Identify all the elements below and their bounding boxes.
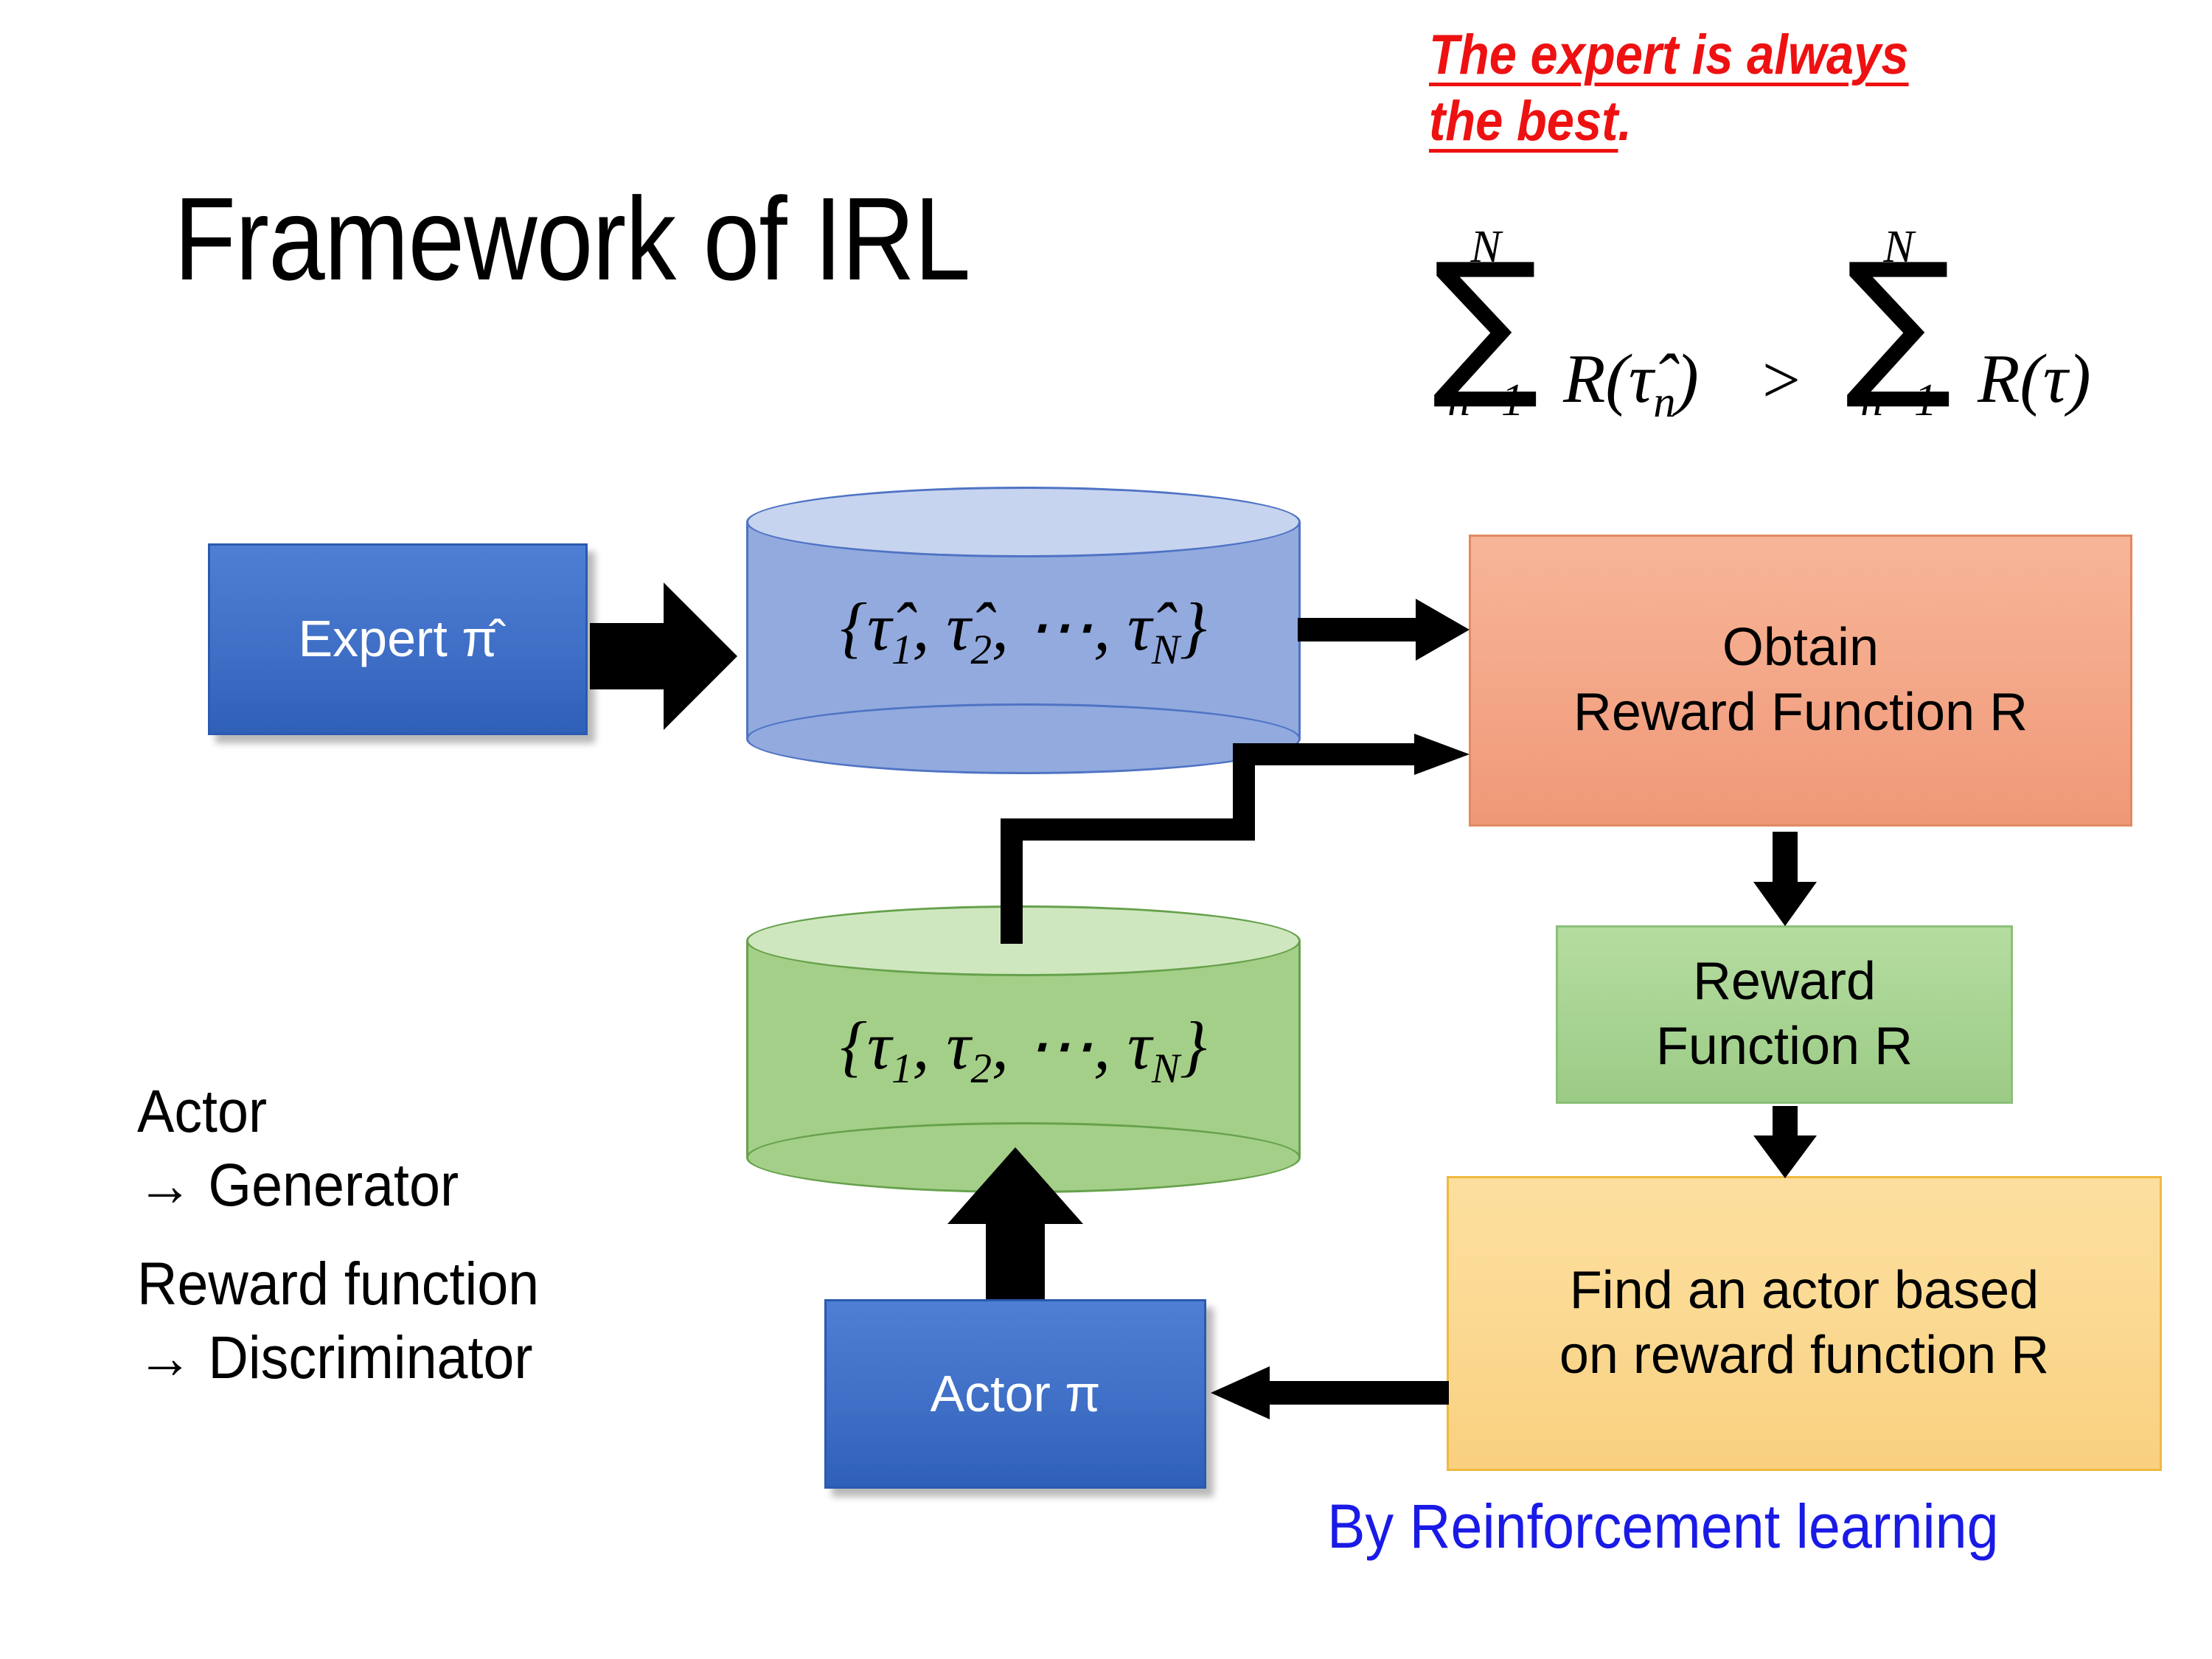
left-reward-close: ) [1675, 341, 1698, 417]
reward-function-box[interactable]: Reward Function R [1556, 925, 2013, 1104]
expert-policy-label: Expert π̂ [298, 608, 497, 670]
tau-hat-2-sub: 2 [970, 627, 992, 673]
find-actor-box[interactable]: Find an actor based on reward function R [1447, 1176, 2162, 1471]
actor-policy-box[interactable]: Actor π [824, 1299, 1206, 1489]
actor-policy-label: Actor π [930, 1363, 1100, 1425]
tau-n-sub: N [1152, 1046, 1180, 1092]
cylinder-top-ellipse [746, 905, 1301, 976]
sigma-icon: ∑ [1829, 260, 1969, 383]
arrow-expert-to-obtain-icon [1298, 599, 1470, 661]
note-line-generator: → Generator [137, 1149, 539, 1222]
tau-1: τ [867, 1008, 891, 1083]
reward-discriminator-note: Reward function → Discriminator [137, 1248, 539, 1395]
slide-canvas: Framework of IRL The expert is always th… [0, 0, 2212, 1659]
sep-2: , ⋯, [992, 589, 1127, 664]
arrow-find-to-actor-icon [1211, 1366, 1449, 1419]
sep-1: , [913, 1008, 947, 1083]
tau-hat-n: τ̂ [1127, 589, 1152, 664]
brace-close: } [1180, 1008, 1207, 1083]
left-reward-sub: n [1653, 378, 1675, 427]
right-summation: N ∑ n=1 [1829, 224, 1969, 423]
expert-callout-line2: the best [1429, 90, 1618, 153]
obtain-box-line1: Obtain [1573, 616, 2028, 681]
brace-close: } [1180, 589, 1207, 664]
tau-hat-2: τ̂ [947, 589, 971, 664]
actor-trajectories-label: {τ1, τ2, ⋯, τN} [746, 1006, 1301, 1093]
find-box-line2: on reward function R [1559, 1324, 2049, 1388]
left-note: Actor → Generator Reward function → Disc… [137, 1075, 539, 1420]
expert-trajectories-label: {τ̂1, τ̂2, ⋯, τ̂N} [746, 587, 1301, 674]
cylinder-bottom-ellipse [746, 703, 1301, 774]
tau-2: τ [947, 1008, 971, 1083]
left-reward-head: R(τ̂ [1563, 341, 1653, 417]
brace-open: { [840, 1008, 867, 1083]
tau-hat-n-sub: N [1152, 627, 1180, 673]
obtain-box-line2: Reward Function R [1573, 681, 2028, 745]
arrow-obtain-to-reward-icon [1753, 832, 1817, 926]
sep-2: , ⋯, [992, 1008, 1127, 1083]
brace-open: { [840, 589, 867, 664]
inequality-formula: N ∑ n=1 R(τ̂n) > N ∑ n=1 R(τ) [1416, 221, 2183, 465]
right-reward-term: R(τ) [1978, 339, 2091, 419]
tau-hat-1-sub: 1 [891, 627, 913, 673]
expert-policy-box[interactable]: Expert π̂ [208, 543, 588, 735]
left-summation: N ∑ n=1 [1416, 224, 1556, 423]
reward-box-line2: Function R [1656, 1015, 1913, 1079]
tau-1-sub: 1 [891, 1046, 913, 1092]
find-box-line1: Find an actor based [1559, 1259, 2049, 1324]
cylinder-bottom-ellipse [746, 1122, 1301, 1193]
tau-2-sub: 2 [970, 1046, 992, 1092]
page-title: Framework of IRL [174, 171, 970, 307]
expert-callout: The expert is always the best. [1429, 22, 2039, 154]
expert-callout-period: . [1618, 90, 1632, 153]
actor-trajectories-cylinder[interactable]: {τ1, τ2, ⋯, τN} [746, 905, 1301, 1193]
note-line-reward-function: Reward function [137, 1248, 539, 1321]
obtain-reward-function-box[interactable]: Obtain Reward Function R [1469, 535, 2132, 827]
rl-caption: By Reinforcement learning [1327, 1491, 1999, 1562]
reward-box-line1: Reward [1656, 950, 1913, 1015]
arrow-reward-to-find-icon [1753, 1106, 1817, 1178]
expert-trajectories-cylinder[interactable]: {τ̂1, τ̂2, ⋯, τ̂N} [746, 487, 1301, 774]
greater-than-operator: > [1762, 341, 1801, 419]
left-reward-term: R(τ̂n) [1563, 339, 1699, 428]
sep-1: , [913, 589, 947, 664]
actor-generator-note: Actor → Generator [137, 1075, 539, 1222]
note-line-actor: Actor [137, 1075, 539, 1149]
tau-n: τ [1127, 1008, 1152, 1083]
block-arrow-right-icon [590, 582, 737, 730]
note-line-discriminator: → Discriminator [137, 1321, 539, 1395]
cylinder-top-ellipse [746, 487, 1301, 557]
tau-hat-1: τ̂ [867, 589, 891, 664]
sigma-icon: ∑ [1416, 260, 1556, 383]
expert-callout-line1: The expert is always [1429, 24, 1909, 86]
